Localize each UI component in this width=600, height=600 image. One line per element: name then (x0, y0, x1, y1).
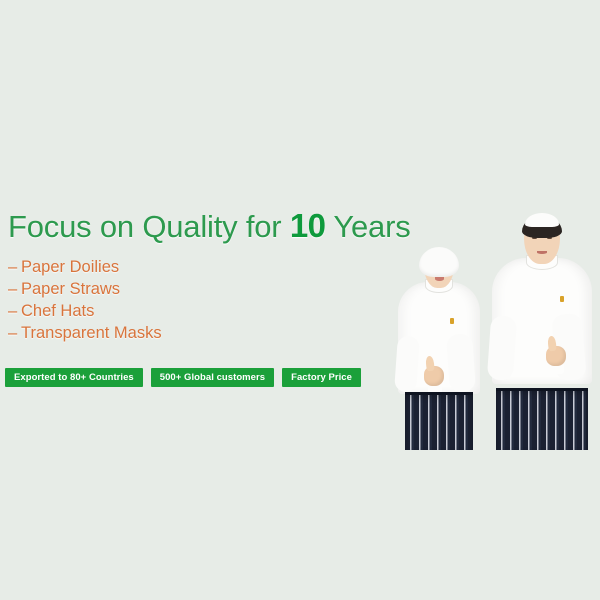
eye-left-icon (431, 265, 435, 267)
jacket-logo-icon (450, 318, 454, 324)
apron-waistband (405, 392, 473, 395)
eye-right-icon (443, 265, 447, 267)
fist (546, 346, 566, 366)
female-chef-figure (398, 248, 480, 450)
headline-years-number: 10 (290, 207, 326, 244)
status-badge-global-customers: 500+ Global customers (151, 368, 274, 387)
headline-prefix: Focus on Quality for (8, 209, 290, 244)
jacket-logo-icon (560, 296, 564, 302)
male-chef-figure (492, 218, 592, 450)
chefs-photo (380, 200, 600, 450)
mouth-icon (537, 251, 547, 254)
badge-row: Exported to 80+ Countries 500+ Global cu… (5, 368, 361, 387)
list-item: –Paper Straws (8, 278, 162, 300)
dash-bullet-icon: – (8, 278, 21, 300)
chef-head (524, 220, 560, 264)
dash-bullet-icon: – (8, 256, 21, 278)
chef-jacket (492, 258, 592, 384)
striped-apron (496, 388, 588, 450)
eye-right-icon (547, 237, 552, 239)
status-badge-factory-price: Factory Price (282, 368, 361, 387)
page-title: Focus on Quality for 10 Years (8, 208, 411, 245)
list-item-label: Paper Straws (21, 280, 120, 298)
dash-bullet-icon: – (8, 322, 21, 344)
mouth-icon (435, 277, 444, 281)
list-item-label: Chef Hats (21, 302, 94, 320)
chef-sleeve (446, 333, 476, 393)
list-item-label: Transparent Masks (21, 324, 162, 342)
apron-waistband (496, 388, 588, 391)
chef-head (424, 250, 454, 288)
list-item: –Chef Hats (8, 300, 162, 322)
list-item: –Transparent Masks (8, 322, 162, 344)
product-list: –Paper Doilies –Paper Straws –Chef Hats … (8, 256, 162, 344)
status-badge-exported-countries: Exported to 80+ Countries (5, 368, 143, 387)
eye-left-icon (532, 237, 537, 239)
striped-apron (405, 392, 473, 450)
dash-bullet-icon: – (8, 300, 21, 322)
list-item-label: Paper Doilies (21, 258, 119, 276)
chef-sleeve (394, 335, 420, 392)
promotional-banner: Focus on Quality for 10 Years –Paper Doi… (0, 0, 600, 600)
chef-sleeve (487, 315, 517, 381)
list-item: –Paper Doilies (8, 256, 162, 278)
fist (424, 366, 444, 386)
